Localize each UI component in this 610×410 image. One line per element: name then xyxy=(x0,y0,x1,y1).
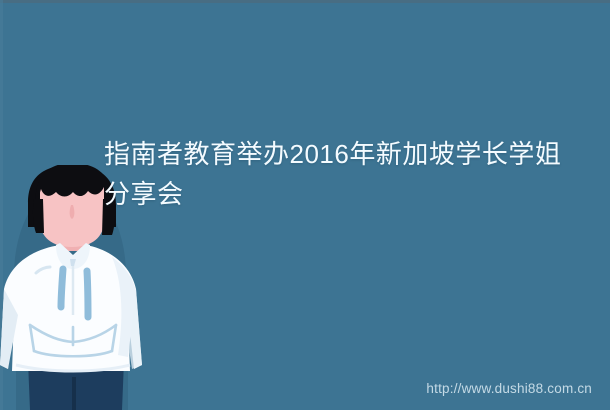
article-banner: 指南者教育举办2016年新加坡学长学姐分享会 http://www.dushi8… xyxy=(0,0,610,410)
watermark-url: http://www.dushi88.com.cn xyxy=(426,381,592,396)
top-border-rule xyxy=(0,0,610,3)
white-hoodie xyxy=(0,243,142,371)
page-title: 指南者教育举办2016年新加坡学长学姐分享会 xyxy=(104,134,584,214)
